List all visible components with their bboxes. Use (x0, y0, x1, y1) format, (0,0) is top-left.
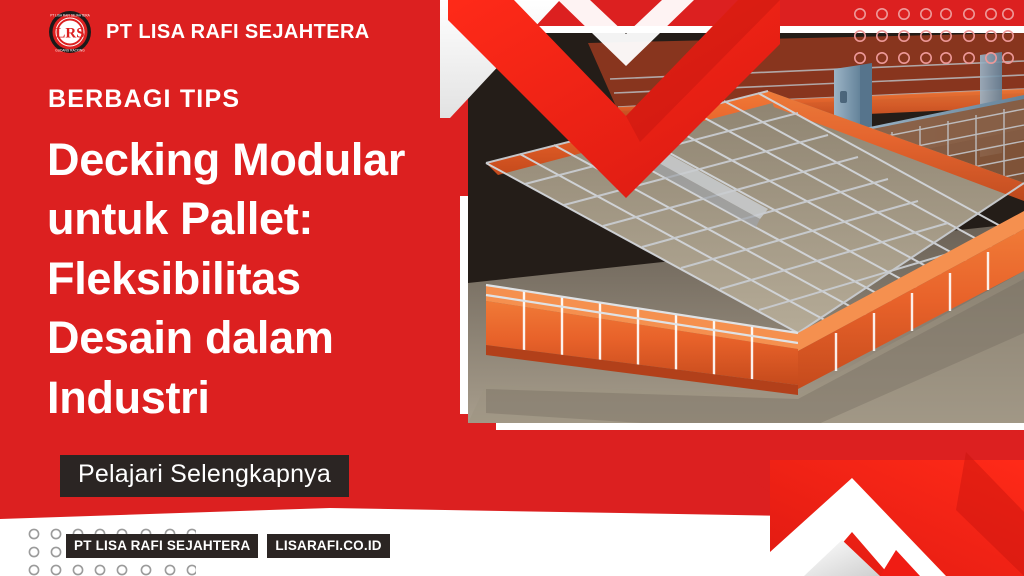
brand-lockup: LRS PT LISA RAFI SEJAHTERA GUDANG RACKIN… (48, 10, 370, 54)
kicker-label: BERBAGI TIPS (48, 85, 240, 114)
learn-more-button[interactable]: Pelajari Selengkapnya (60, 455, 349, 497)
footer-company-chip: PT LISA RAFI SEJAHTERA (66, 534, 258, 558)
page-title: Decking Modular untuk Pallet: Fleksibili… (47, 130, 407, 427)
lrs-logo-icon: LRS PT LISA RAFI SEJAHTERA GUDANG RACKIN… (48, 10, 92, 54)
footer-bar: PT LISA RAFI SEJAHTERA LISARAFI.CO.ID (66, 534, 390, 558)
poster-canvas: LRS PT LISA RAFI SEJAHTERA GUDANG RACKIN… (0, 0, 1024, 576)
logo-monogram: LRS (55, 26, 84, 42)
dot-grid-top (852, 6, 1014, 78)
logo-ring-bottom-text: GUDANG RACKING (55, 48, 85, 52)
hero-photo (468, 33, 1024, 423)
logo-ring-top-text: PT LISA RAFI SEJAHTERA (50, 13, 90, 17)
brand-name: PT LISA RAFI SEJAHTERA (106, 21, 370, 44)
footer-website-chip[interactable]: LISARAFI.CO.ID (267, 534, 389, 558)
